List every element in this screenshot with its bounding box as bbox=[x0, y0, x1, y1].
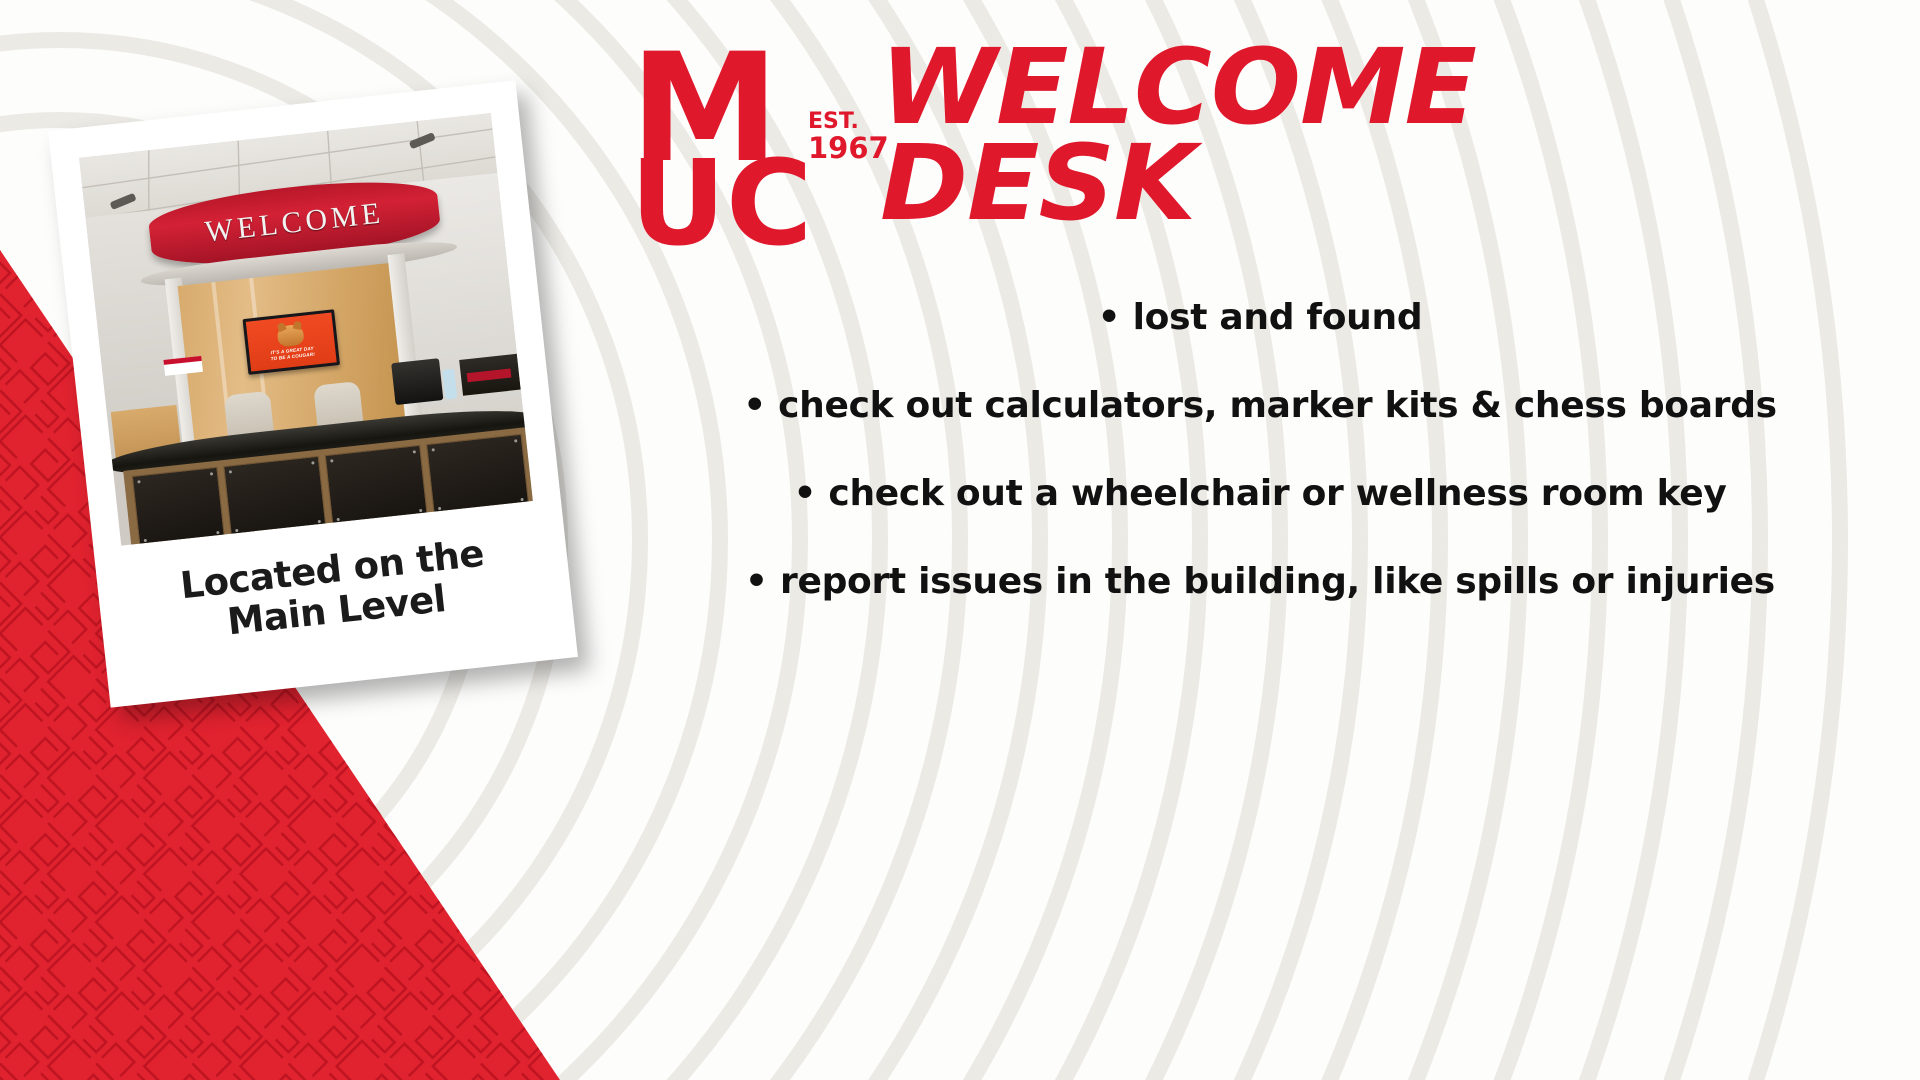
desk-printer bbox=[391, 358, 443, 405]
logo-est-label: EST. bbox=[808, 110, 889, 133]
list-item: • lost and found bbox=[600, 300, 1920, 336]
bullet-text: check out a wheelchair or wellness room … bbox=[828, 473, 1726, 514]
polaroid-caption: Located on the Main Level bbox=[124, 527, 545, 654]
title-line-desk: DESK bbox=[880, 136, 1920, 232]
list-item: • check out calculators, marker kits & c… bbox=[600, 388, 1920, 424]
logo-est-block: EST. 1967 bbox=[808, 110, 889, 164]
content-column: M UC EST. 1967 WELCOME DESK • lost and f… bbox=[600, 0, 1920, 1080]
bullet-marker: • bbox=[1098, 297, 1121, 338]
logo-est-year: 1967 bbox=[808, 133, 889, 163]
muc-logo-lockup: M UC EST. 1967 WELCOME DESK bbox=[630, 48, 850, 248]
list-item: • check out a wheelchair or wellness roo… bbox=[600, 476, 1920, 512]
polaroid-card: WELCOME IT'S A GREAT DAY TO BE A COUGAR! bbox=[48, 80, 578, 707]
bullet-marker: • bbox=[745, 561, 768, 602]
cougar-mascot-icon bbox=[276, 324, 304, 348]
welcome-desk-photo: WELCOME IT'S A GREAT DAY TO BE A COUGAR! bbox=[79, 113, 533, 545]
desk-storage-box bbox=[459, 354, 521, 396]
lobby-display-tv: IT'S A GREAT DAY TO BE A COUGAR! bbox=[243, 309, 341, 375]
tv-screen: IT'S A GREAT DAY TO BE A COUGAR! bbox=[246, 313, 337, 372]
services-list: • lost and found • check out calculators… bbox=[600, 300, 1920, 652]
page-title: WELCOME DESK bbox=[880, 40, 1920, 231]
poster-canvas: WELCOME IT'S A GREAT DAY TO BE A COUGAR! bbox=[0, 0, 1920, 1080]
list-item: • report issues in the building, like sp… bbox=[600, 564, 1920, 600]
logo-letters-uc: UC bbox=[630, 134, 812, 248]
bullet-text: report issues in the building, like spil… bbox=[780, 561, 1775, 602]
bullet-marker: • bbox=[743, 385, 766, 426]
bullet-text: check out calculators, marker kits & che… bbox=[778, 385, 1777, 426]
bullet-text: lost and found bbox=[1133, 297, 1423, 338]
welcome-sign-text: WELCOME bbox=[203, 196, 385, 249]
muc-logo-mark: M UC EST. 1967 bbox=[630, 48, 850, 248]
bullet-marker: • bbox=[793, 473, 816, 514]
